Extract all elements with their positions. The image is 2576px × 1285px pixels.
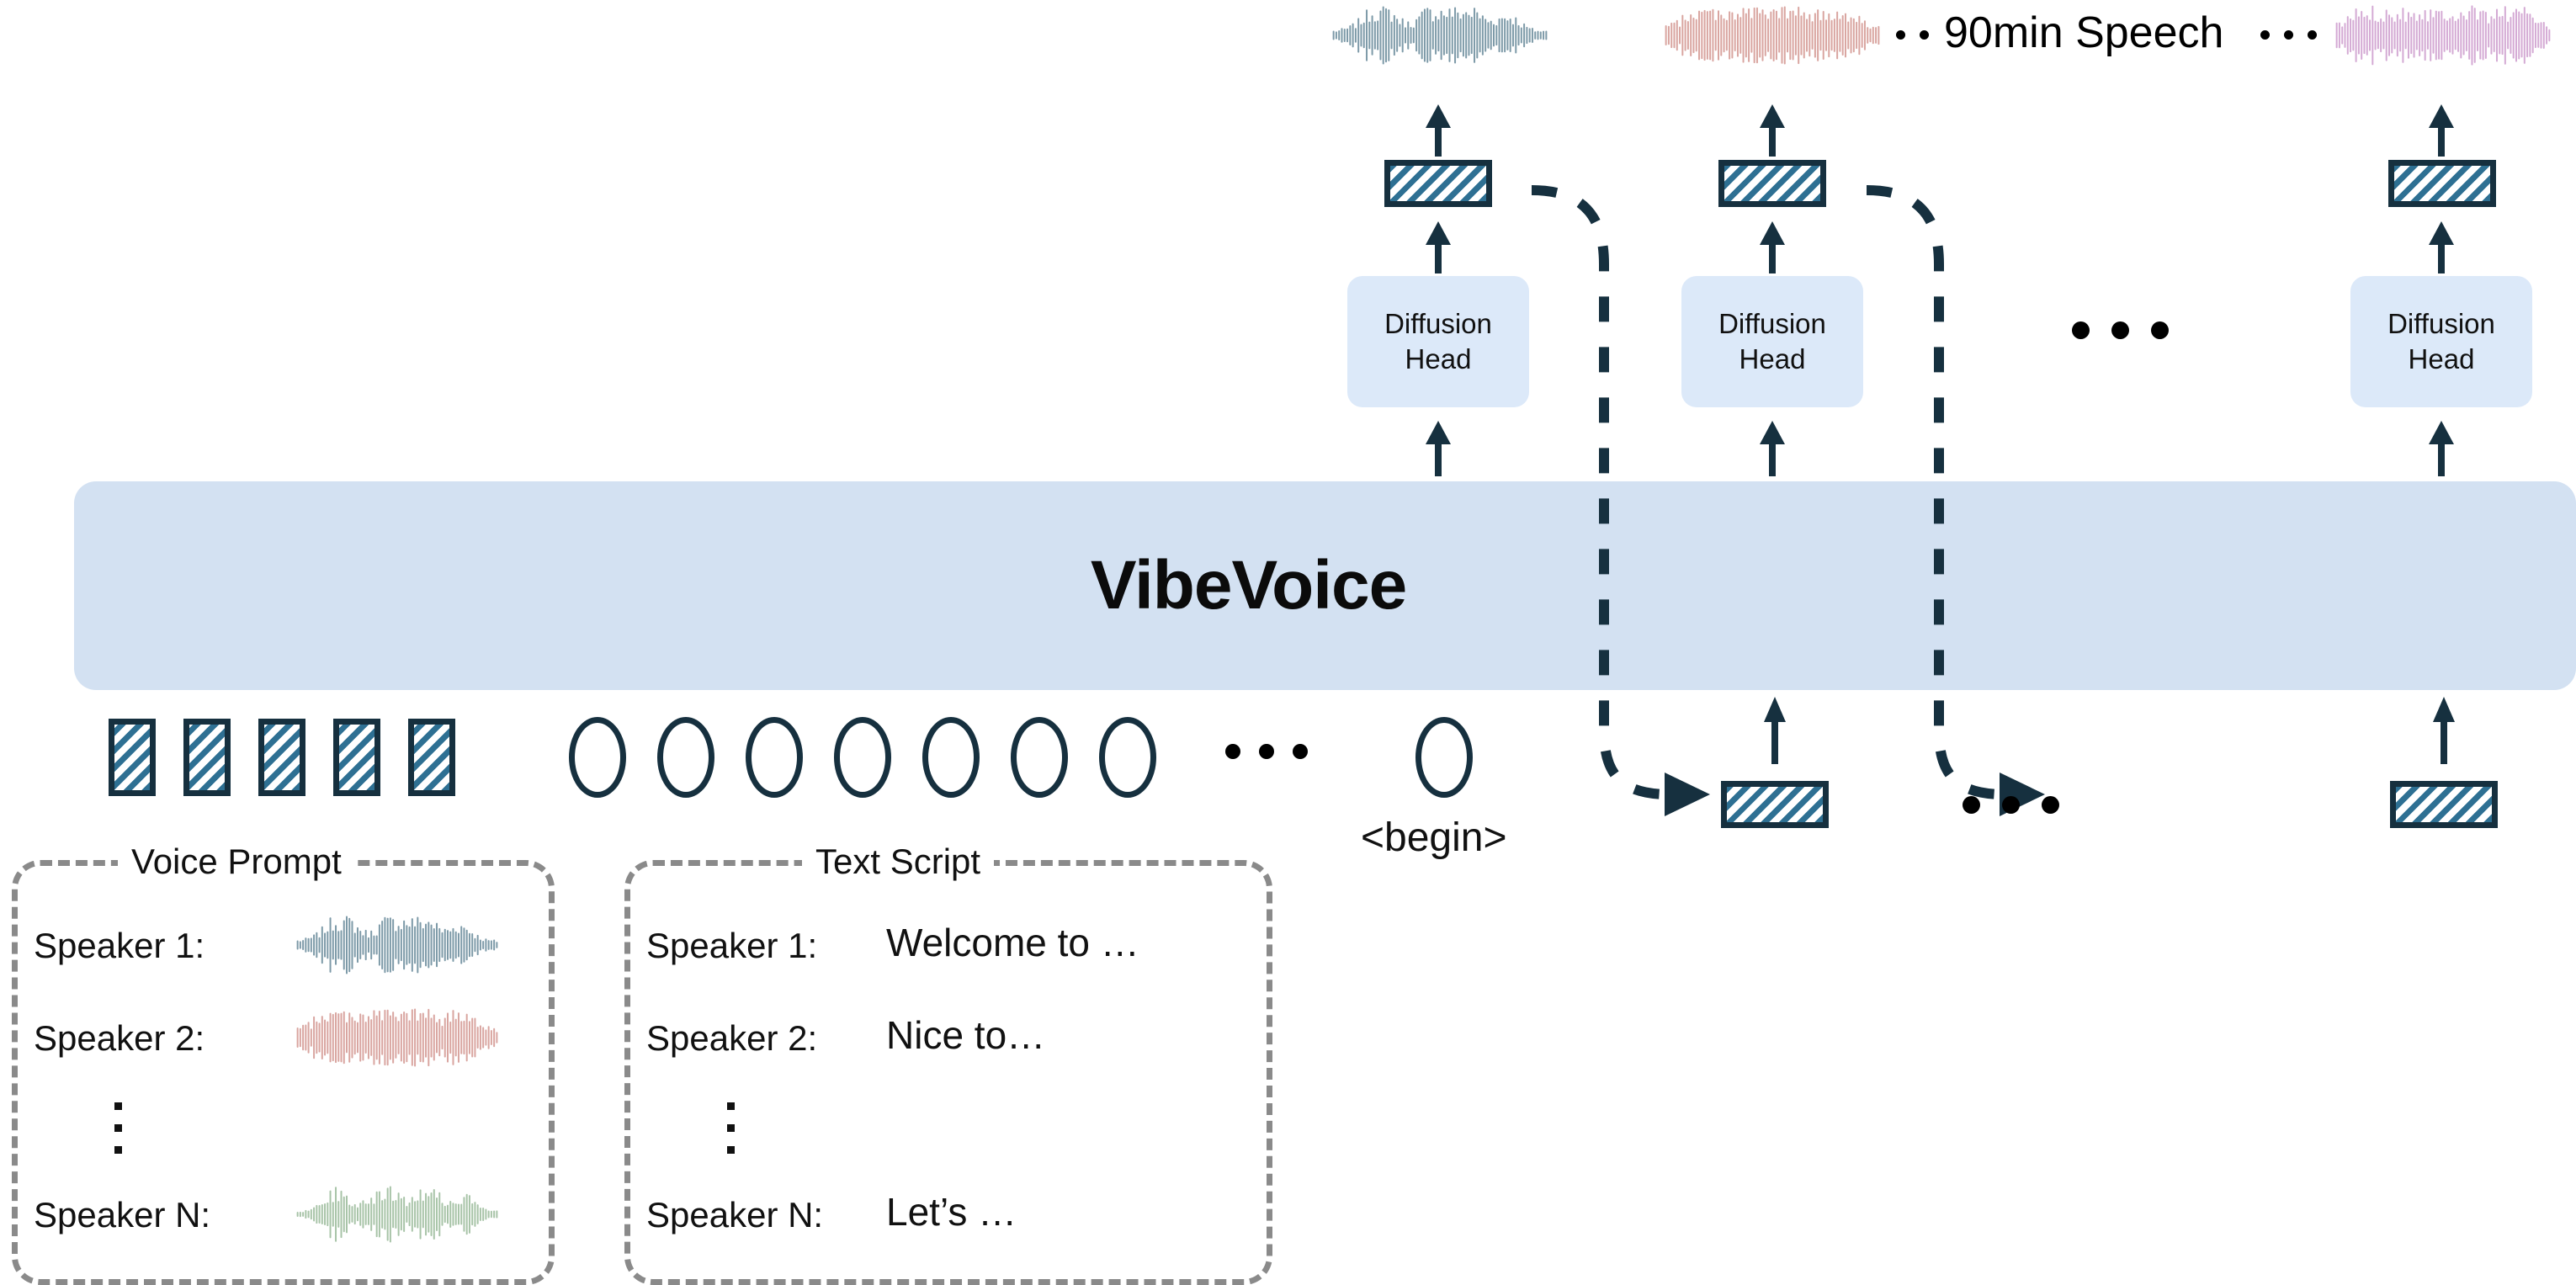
arrow-latent-to-waveform-3 [2427, 104, 2456, 157]
text-script-row-1-label: Speaker 1: [646, 926, 817, 966]
predicted-latent-token-2 [1718, 160, 1826, 207]
voice-prompt-token-2 [183, 719, 231, 796]
arrow-latent-to-waveform-2 [1758, 104, 1787, 157]
arrow-llm-to-head-3 [2427, 421, 2456, 476]
text-script-vertical-ellipsis [727, 1102, 735, 1154]
text-token-2 [657, 717, 714, 798]
diffusion-head-2-line2: Head [1739, 342, 1806, 377]
diffusion-head-1-line1: Diffusion [1384, 306, 1492, 342]
diffusion-head-3[interactable]: Diffusion Head [2350, 276, 2532, 407]
output-waveform-3 [2335, 5, 2551, 66]
arrow-head-to-latent-1 [1424, 221, 1453, 273]
speech-duration-label: 90min Speech [1944, 8, 2223, 58]
voice-prompt-token-4 [333, 719, 380, 796]
arrow-latent-input-to-llm-2 [2430, 697, 2458, 764]
text-token-4 [834, 717, 891, 798]
vibevoice-title: VibeVoice [1091, 546, 1406, 625]
arrow-head-to-latent-2 [1758, 221, 1787, 273]
arrow-llm-to-head-2 [1758, 421, 1787, 476]
diffusion-head-2-line1: Diffusion [1718, 306, 1826, 342]
predicted-latent-token-3 [2388, 160, 2496, 207]
diffusion-head-1-line2: Head [1405, 342, 1472, 377]
begin-token-label: <begin> [1361, 815, 1507, 861]
text-script-title: Text Script [802, 842, 994, 882]
token-row-ellipsis [1225, 744, 1308, 759]
generated-latent-ellipsis [1963, 796, 2059, 814]
diffusion-head-1[interactable]: Diffusion Head [1347, 276, 1529, 407]
voice-prompt-row-2-waveform [296, 1007, 498, 1068]
text-script-row-2-label: Speaker 2: [646, 1018, 817, 1059]
arrow-head-to-latent-3 [2427, 221, 2456, 273]
arrow-latent-input-to-llm-1 [1761, 697, 1789, 764]
speech-left-ellipsis [1896, 30, 1929, 40]
generated-latent-input-2 [2390, 781, 2498, 828]
voice-prompt-token-3 [258, 719, 305, 796]
text-token-1 [569, 717, 626, 798]
architecture-diagram: 90min Speech Diffusion Head Diffusion He… [0, 0, 2576, 1285]
generated-latent-input-1 [1721, 781, 1829, 828]
voice-prompt-row-2-label: Speaker 2: [34, 1018, 204, 1059]
speech-right-ellipsis [2260, 30, 2317, 40]
text-script-row-3-label: Speaker N: [646, 1195, 823, 1235]
text-script-row-2-text: Nice to… [886, 1012, 1045, 1058]
begin-token [1415, 717, 1473, 798]
diffusion-head-3-line2: Head [2409, 342, 2475, 377]
text-script-row-1-text: Welcome to … [886, 920, 1139, 965]
text-token-7 [1099, 717, 1156, 798]
diffusion-head-ellipsis [2072, 321, 2169, 339]
output-waveform-2 [1665, 5, 1880, 66]
text-token-6 [1011, 717, 1068, 798]
arrow-latent-to-waveform-1 [1424, 104, 1453, 157]
text-token-5 [922, 717, 980, 798]
voice-prompt-token-5 [408, 719, 455, 796]
diffusion-head-2[interactable]: Diffusion Head [1681, 276, 1863, 407]
arrow-llm-to-head-1 [1424, 421, 1453, 476]
output-waveform-1 [1332, 5, 1548, 66]
text-script-row-3-text: Let’s … [886, 1189, 1017, 1235]
voice-prompt-row-1-waveform [296, 915, 498, 975]
voice-prompt-row-3-waveform [296, 1184, 498, 1245]
voice-prompt-token-1 [109, 719, 156, 796]
vibevoice-model-bar[interactable]: VibeVoice [74, 481, 2576, 690]
voice-prompt-title: Voice Prompt [118, 842, 355, 882]
voice-prompt-vertical-ellipsis [114, 1102, 122, 1154]
text-token-3 [746, 717, 803, 798]
predicted-latent-token-1 [1384, 160, 1492, 207]
voice-prompt-row-3-label: Speaker N: [34, 1195, 210, 1235]
voice-prompt-row-1-label: Speaker 1: [34, 926, 204, 966]
diffusion-head-3-line1: Diffusion [2387, 306, 2495, 342]
